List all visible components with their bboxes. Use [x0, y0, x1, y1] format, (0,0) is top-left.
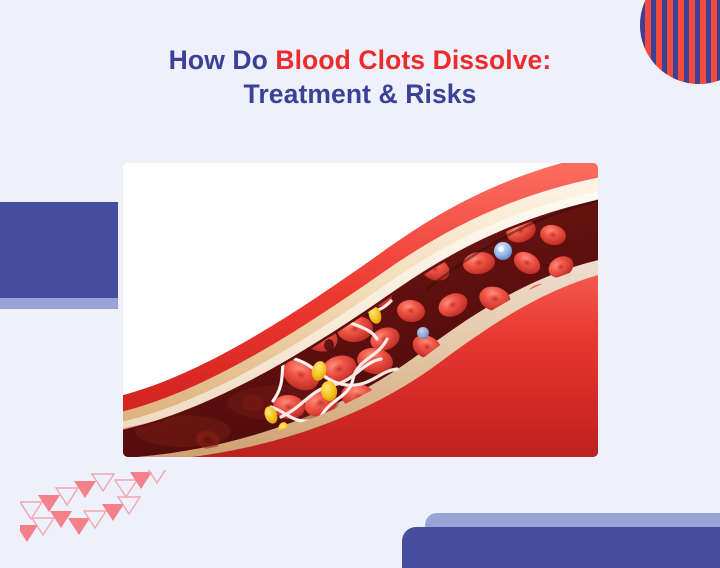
left-blue-block-dark — [0, 202, 118, 298]
page-title: How Do Blood Clots Dissolve: Treatment &… — [0, 44, 720, 112]
title-line-1-highlight: Blood Clots Dissolve: — [275, 45, 551, 75]
blood-vessel-illustration — [123, 163, 598, 457]
title-line-1: How Do Blood Clots Dissolve: — [0, 44, 720, 78]
title-line-2: Treatment & Risks — [0, 78, 720, 112]
infographic-canvas: How Do Blood Clots Dissolve: Treatment &… — [0, 0, 720, 568]
bottom-right-blue-block-dark — [402, 527, 720, 568]
illustration-card — [123, 163, 598, 457]
triangle-pattern — [20, 470, 170, 565]
title-line-1-prefix: How Do — [169, 45, 276, 75]
triangle-pattern-svg — [20, 470, 170, 565]
